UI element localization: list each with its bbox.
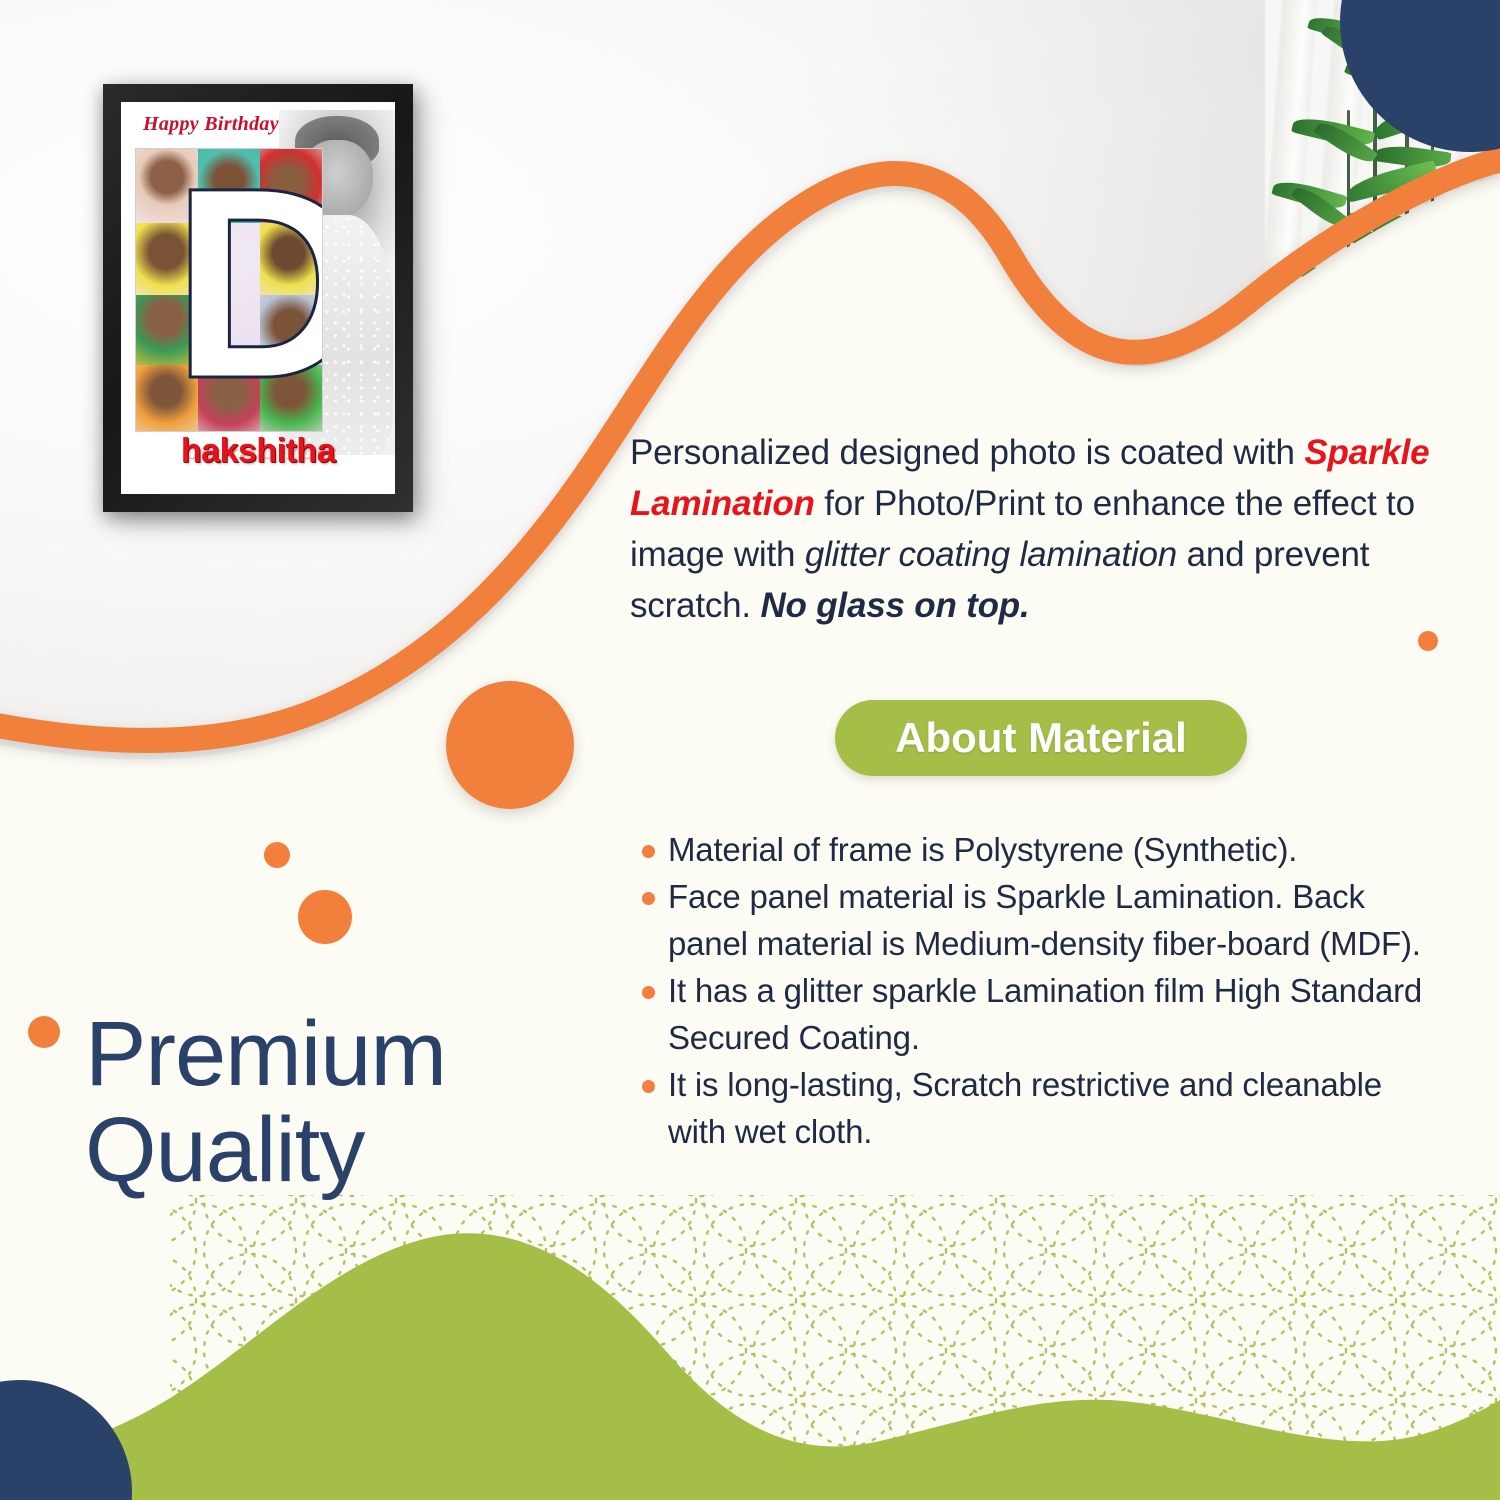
list-item: Face panel material is Sparkle Laminatio… [636,873,1436,967]
product-infographic-poster: Happy Birthday D hakshitha hakshitha [0,0,1500,1500]
decorative-shapes [0,0,1500,1500]
about-material-badge: About Material [835,700,1247,776]
premium-quality-headline: Premium Quality [85,1006,605,1198]
intro-part1: Personalized designed photo is coated wi… [630,433,1304,472]
orange-circle-medium [298,890,352,944]
material-bullet-list: Material of frame is Polystyrene (Synthe… [636,826,1436,1155]
list-item: Material of frame is Polystyrene (Synthe… [636,826,1436,873]
list-item: It has a glitter sparkle Lamination film… [636,967,1436,1061]
navy-circle-top-right [1340,0,1500,152]
orange-circle-large [446,681,574,809]
headline-line-1: Premium [85,1006,605,1102]
list-item: It is long-lasting, Scratch restrictive … [636,1061,1436,1155]
glitter-coating-emphasis: glitter coating lamination [805,535,1177,574]
about-material-label: About Material [895,714,1187,762]
headline-line-2: Quality [85,1102,605,1198]
orange-circle-small [264,842,290,868]
no-glass-emphasis: No glass on top. [760,586,1029,625]
intro-paragraph: Personalized designed photo is coated wi… [630,427,1440,631]
orange-circle-small [28,1016,60,1048]
intro-text-block: Personalized designed photo is coated wi… [630,392,1440,666]
